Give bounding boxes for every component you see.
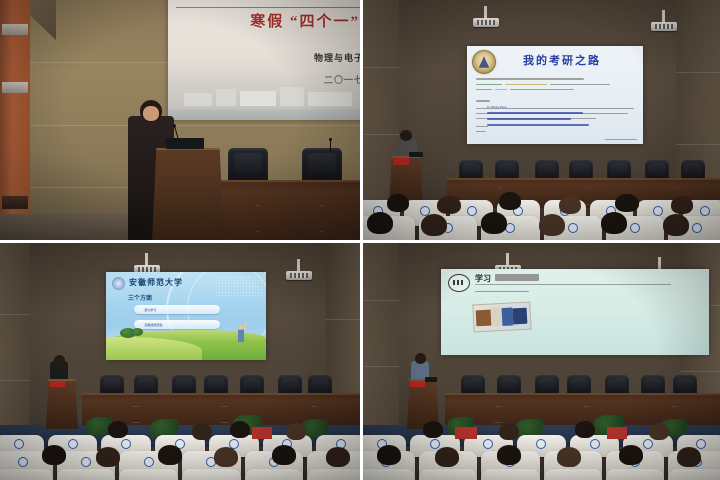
podium-sign xyxy=(50,381,65,387)
audience-head xyxy=(649,423,669,440)
podium-sign xyxy=(393,158,409,165)
slide-content: 学习 xyxy=(441,269,709,355)
audience-seat xyxy=(307,469,360,480)
audience-head xyxy=(435,447,459,467)
slide-title-text: 我的考研之路 xyxy=(523,52,601,68)
seat-logo-icon xyxy=(653,206,663,216)
audience-head xyxy=(437,196,461,214)
audience-head xyxy=(619,445,643,465)
red-banner xyxy=(455,427,477,439)
stage-chair xyxy=(302,148,342,182)
audience-head xyxy=(499,192,521,210)
stage-chair xyxy=(607,160,631,180)
projection-screen: 寒假 “四个一” 物理与电子 二〇一七 xyxy=(168,0,360,120)
seat-logo-icon xyxy=(430,439,440,449)
speaker-head xyxy=(400,130,412,141)
seat-logo-icon xyxy=(630,223,640,233)
audience-head xyxy=(499,423,519,440)
slide-bullet: 努力学习 xyxy=(134,305,220,314)
audience-head xyxy=(387,194,409,212)
laptop xyxy=(409,152,423,157)
university-logo-icon xyxy=(112,277,125,290)
audience-row xyxy=(0,469,360,480)
audience-row xyxy=(363,469,720,480)
stage-chair xyxy=(535,160,559,180)
university-emblem-icon xyxy=(472,50,496,74)
audience-seat xyxy=(606,469,664,480)
audience-head xyxy=(481,212,507,234)
audience-head xyxy=(677,447,701,467)
laptop xyxy=(166,138,204,149)
podium xyxy=(152,148,224,240)
speaker-head xyxy=(54,355,65,365)
slide-books-photo xyxy=(472,302,531,333)
speaker-head xyxy=(415,353,426,364)
stage-desk xyxy=(214,180,360,240)
seat-logo-icon xyxy=(590,439,600,449)
orange-pilaster xyxy=(0,0,30,240)
audience-head xyxy=(423,421,443,438)
slide-tree-art xyxy=(132,328,143,336)
seat-logo-icon xyxy=(14,439,24,449)
audience-head xyxy=(42,445,66,465)
audience-seat xyxy=(481,469,539,480)
collage-panel-top-left: 寒假 “四个一” 物理与电子 二〇一七 xyxy=(0,0,360,240)
audience-head xyxy=(601,212,627,234)
slide-academic: 我的考研之路 Dr. Zhiming Zhang xyxy=(467,46,643,144)
collage-panel-bottom-left: 安徽师范大学 三个方面 努力学习 掌握技能经验 学科竞赛 xyxy=(0,243,360,480)
audience-head xyxy=(286,423,306,440)
projection-screen: 安徽师范大学 三个方面 努力学习 掌握技能经验 学科竞赛 xyxy=(106,272,266,360)
audience-head xyxy=(272,445,296,465)
seat-logo-icon xyxy=(18,457,28,467)
audience-head xyxy=(230,421,250,438)
audience-head xyxy=(377,445,401,465)
slide-bullet-label: 掌握技能经验 xyxy=(144,323,162,327)
stage-chair xyxy=(681,160,705,180)
slide-bullet: 掌握技能经验 xyxy=(134,320,220,329)
audience-head xyxy=(663,214,689,236)
seat-logo-icon xyxy=(483,439,493,449)
slide-outline: 安徽师范大学 三个方面 努力学习 掌握技能经验 学科竞赛 xyxy=(106,272,266,360)
audience-head xyxy=(158,445,182,465)
seat-logo-icon xyxy=(700,206,710,216)
audience-head xyxy=(192,423,212,440)
projector-icon xyxy=(473,18,499,27)
projection-screen: 我的考研之路 Dr. Zhiming Zhang xyxy=(467,46,643,144)
stage-chair xyxy=(228,148,268,182)
collage-panel-bottom-right: 学习 xyxy=(363,243,720,480)
red-banner xyxy=(607,427,627,439)
audience-head xyxy=(96,447,120,467)
audience-seat xyxy=(182,469,241,480)
audience-head xyxy=(421,214,447,236)
audience-seat xyxy=(363,469,415,480)
seat-logo-icon xyxy=(692,223,702,233)
slide-title-text: 寒假 “四个一” xyxy=(168,10,360,31)
slide-child-art xyxy=(238,329,244,342)
audience-seat xyxy=(544,469,602,480)
slide-title: 寒假 “四个一” 物理与电子 二〇一七 xyxy=(168,0,360,120)
audience-seat xyxy=(245,469,304,480)
audience-head xyxy=(559,196,581,214)
seat-logo-icon xyxy=(536,439,546,449)
slide-campus-photo xyxy=(168,68,360,120)
projection-screen: 学习 xyxy=(441,269,709,355)
seat-logo-icon xyxy=(696,439,706,449)
red-banner xyxy=(252,427,272,439)
laptop xyxy=(425,377,437,382)
seat-logo-icon xyxy=(68,439,78,449)
audience-seat xyxy=(668,469,720,480)
audience-head xyxy=(214,447,238,467)
seat-logo-icon xyxy=(643,439,653,449)
abacus-icon xyxy=(448,274,470,292)
stage-chair xyxy=(459,160,483,180)
seat-logo-icon xyxy=(144,457,154,467)
audience-seat xyxy=(0,469,53,480)
slide-bullet-label: 努力学习 xyxy=(144,308,156,312)
audience-head xyxy=(108,421,128,438)
podium-sign xyxy=(410,381,425,387)
audience-head xyxy=(367,212,393,234)
audience-head xyxy=(671,196,693,214)
slide-subtitle-line1: 物理与电子 xyxy=(314,51,360,64)
slide-author-line: Dr. Zhiming Zhang xyxy=(487,106,507,109)
audience-head xyxy=(575,421,595,438)
audience-seat xyxy=(119,469,178,480)
stage-chair xyxy=(495,160,519,180)
slide-heading-highlight xyxy=(495,274,539,281)
audience-head xyxy=(557,447,581,467)
audience-seat xyxy=(419,469,477,480)
seat-logo-icon xyxy=(568,223,578,233)
projector-icon xyxy=(651,22,677,31)
audience-seat xyxy=(57,469,116,480)
slide-university-name: 安徽师范大学 xyxy=(129,277,183,288)
seat-logo-icon xyxy=(81,457,91,467)
audience-head xyxy=(615,194,639,212)
photo-collage: 寒假 “四个一” 物理与电子 二〇一七 xyxy=(0,0,720,480)
seat-logo-icon xyxy=(467,206,477,216)
audience-head xyxy=(497,445,521,465)
collage-panel-top-right: 我的考研之路 Dr. Zhiming Zhang xyxy=(363,0,720,240)
seat-logo-icon xyxy=(121,439,131,449)
audience-head xyxy=(539,214,565,236)
projector-icon xyxy=(286,271,312,280)
audience-head xyxy=(326,447,350,467)
slide-heading: 学习 xyxy=(475,273,491,284)
slide-heading: 三个方面 xyxy=(128,293,152,302)
stage-chair xyxy=(569,160,593,180)
speaker-face xyxy=(143,106,159,121)
stage-chair xyxy=(645,160,669,180)
